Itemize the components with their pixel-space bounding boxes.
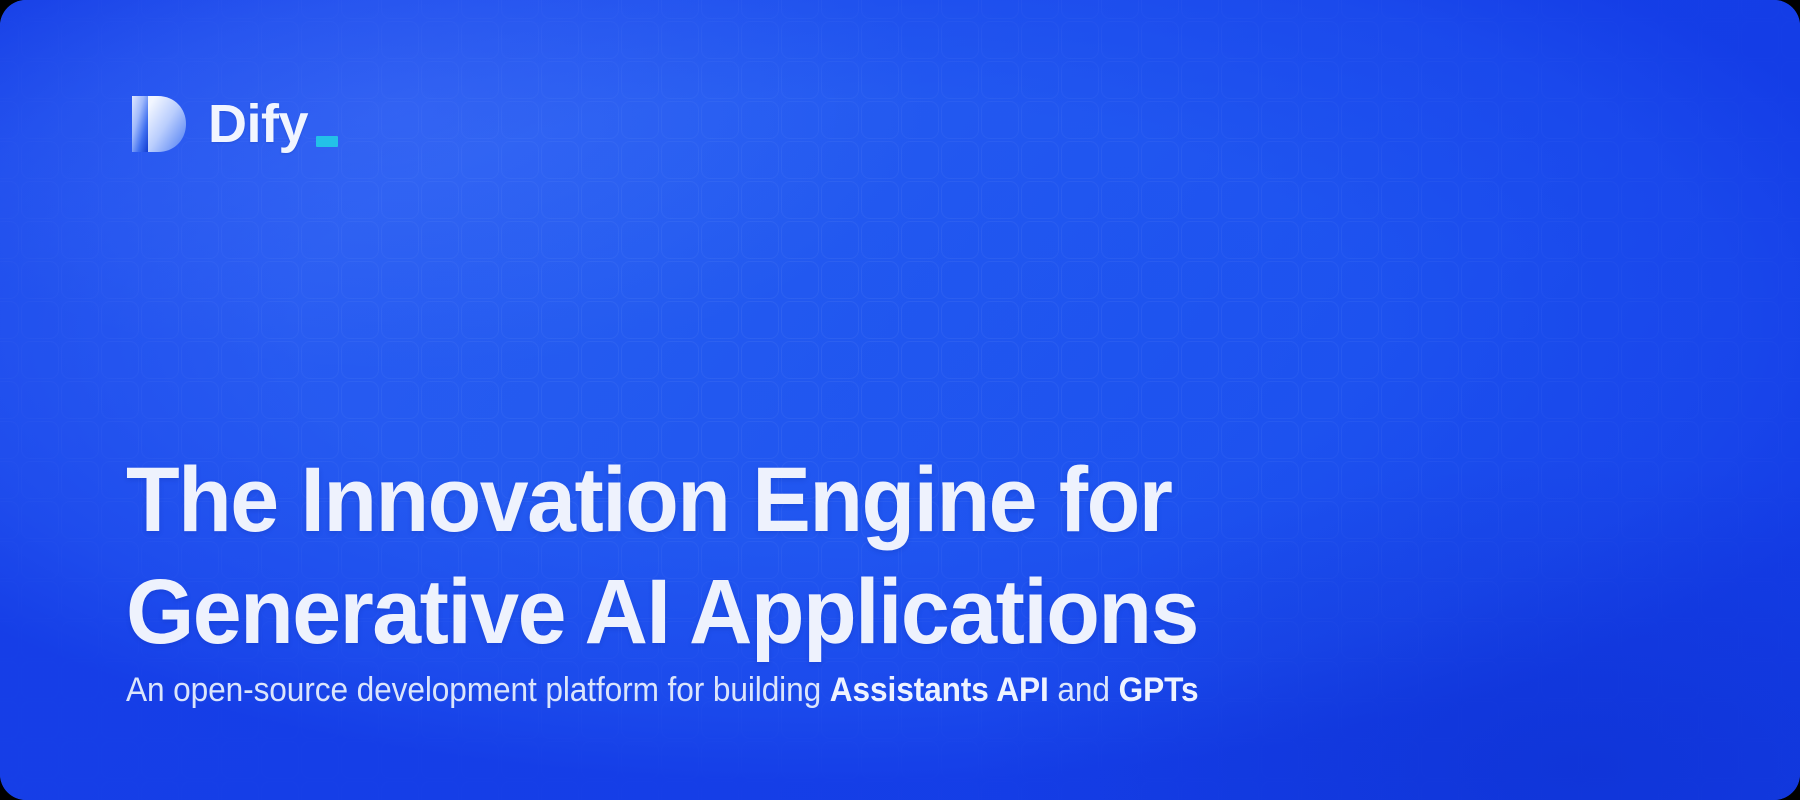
grid-cell [1221, 701, 1259, 739]
grid-cell [0, 21, 19, 59]
grid-cell [1741, 221, 1779, 259]
grid-cell [1461, 101, 1499, 139]
grid-cell [1701, 21, 1739, 59]
hero-banner: Dify The Innovation Engine for Generativ… [0, 0, 1800, 800]
grid-cell [1501, 21, 1539, 59]
grid-cell [221, 341, 259, 379]
grid-cell [501, 381, 539, 419]
grid-cell [421, 741, 459, 779]
grid-cell [661, 781, 699, 800]
grid-cell [1621, 741, 1659, 779]
grid-cell [1381, 21, 1419, 59]
grid-cell [621, 21, 659, 59]
grid-cell [0, 701, 19, 739]
grid-cell [821, 0, 859, 19]
grid-cell [461, 341, 499, 379]
grid-cell [1381, 541, 1419, 579]
grid-cell [1541, 581, 1579, 619]
grid-cell [701, 741, 739, 779]
grid-cell [741, 0, 779, 19]
grid-cell [381, 741, 419, 779]
grid-cell [1541, 61, 1579, 99]
grid-cell [1341, 0, 1379, 19]
grid-cell [1421, 421, 1459, 459]
grid-cell [1421, 141, 1459, 179]
grid-cell [1581, 261, 1619, 299]
grid-cell [821, 221, 859, 259]
grid-cell [901, 741, 939, 779]
grid-cell [1181, 781, 1219, 800]
grid-cell [301, 0, 339, 19]
grid-cell [1781, 141, 1800, 179]
grid-cell [181, 341, 219, 379]
grid-cell [1221, 221, 1259, 259]
grid-cell [261, 781, 299, 800]
grid-cell [1621, 221, 1659, 259]
grid-cell [61, 501, 99, 539]
grid-cell [701, 301, 739, 339]
grid-cell [1221, 741, 1259, 779]
grid-cell [0, 301, 19, 339]
grid-cell [621, 261, 659, 299]
grid-cell [1781, 101, 1800, 139]
grid-cell [861, 101, 899, 139]
grid-cell [461, 0, 499, 19]
grid-cell [1701, 741, 1739, 779]
grid-cell [21, 781, 59, 800]
grid-cell [1541, 261, 1579, 299]
grid-cell [1541, 781, 1579, 800]
grid-cell [781, 301, 819, 339]
grid-cell [1701, 141, 1739, 179]
grid-cell [781, 261, 819, 299]
grid-cell [781, 741, 819, 779]
grid-cell [941, 741, 979, 779]
grid-cell [861, 181, 899, 219]
grid-cell [1461, 741, 1499, 779]
grid-cell [581, 181, 619, 219]
grid-cell [1781, 261, 1800, 299]
grid-cell [1701, 781, 1739, 800]
grid-cell [1301, 621, 1339, 659]
grid-cell [901, 181, 939, 219]
grid-cell [1581, 781, 1619, 800]
grid-cell [981, 341, 1019, 379]
grid-cell [1301, 341, 1339, 379]
grid-cell [1461, 301, 1499, 339]
grid-cell [861, 221, 899, 259]
grid-cell [0, 221, 19, 259]
grid-cell [141, 21, 179, 59]
grid-cell [1341, 341, 1379, 379]
grid-cell [1421, 541, 1459, 579]
grid-cell [901, 101, 939, 139]
grid-cell [1141, 181, 1179, 219]
grid-cell [61, 781, 99, 800]
grid-cell [461, 741, 499, 779]
grid-cell [1141, 781, 1179, 800]
grid-cell [1741, 581, 1779, 619]
grid-cell [61, 61, 99, 99]
grid-cell [221, 301, 259, 339]
grid-cell [1341, 581, 1379, 619]
grid-cell [301, 341, 339, 379]
grid-cell [421, 61, 459, 99]
grid-cell [861, 341, 899, 379]
grid-cell [621, 341, 659, 379]
grid-cell [541, 0, 579, 19]
grid-cell [1301, 21, 1339, 59]
grid-cell [581, 0, 619, 19]
grid-cell [1581, 621, 1619, 659]
grid-cell [861, 301, 899, 339]
grid-cell [1421, 701, 1459, 739]
grid-cell [1621, 461, 1659, 499]
grid-cell [861, 21, 899, 59]
grid-cell [821, 261, 859, 299]
grid-cell [541, 101, 579, 139]
grid-cell [1141, 141, 1179, 179]
dify-d-mark-icon [126, 92, 190, 156]
grid-cell [661, 301, 699, 339]
hero-subtitle-part-4: GPTs [1119, 671, 1199, 709]
brand-logo[interactable]: Dify [126, 92, 338, 156]
grid-cell [661, 0, 699, 19]
grid-cell [0, 781, 19, 800]
grid-cell [1501, 621, 1539, 659]
grid-cell [1061, 101, 1099, 139]
grid-cell [1781, 701, 1800, 739]
grid-cell [1101, 381, 1139, 419]
grid-cell [1621, 301, 1659, 339]
grid-cell [1341, 461, 1379, 499]
brand-accent-dash-icon [316, 136, 338, 147]
grid-cell [61, 581, 99, 619]
grid-cell [1061, 301, 1099, 339]
grid-cell [1741, 701, 1779, 739]
grid-cell [461, 61, 499, 99]
grid-cell [1221, 261, 1259, 299]
grid-cell [1021, 181, 1059, 219]
grid-cell [341, 141, 379, 179]
grid-cell [501, 0, 539, 19]
grid-cell [1621, 381, 1659, 419]
grid-cell [901, 341, 939, 379]
grid-cell [1221, 581, 1259, 619]
grid-cell [981, 301, 1019, 339]
grid-cell [781, 141, 819, 179]
grid-cell [381, 781, 419, 800]
hero-subtitle-part-3: and [1049, 671, 1119, 709]
grid-cell [1181, 301, 1219, 339]
grid-cell [101, 261, 139, 299]
grid-cell [501, 21, 539, 59]
grid-cell [261, 341, 299, 379]
grid-cell [1701, 501, 1739, 539]
grid-cell [1021, 301, 1059, 339]
grid-cell [1061, 341, 1099, 379]
grid-cell [621, 781, 659, 800]
grid-cell [901, 381, 939, 419]
grid-cell [901, 261, 939, 299]
grid-cell [1381, 701, 1419, 739]
grid-cell [981, 781, 1019, 800]
grid-cell [661, 741, 699, 779]
grid-cell [381, 221, 419, 259]
grid-cell [701, 21, 739, 59]
grid-cell [381, 301, 419, 339]
grid-cell [1181, 141, 1219, 179]
grid-cell [941, 381, 979, 419]
grid-cell [1221, 541, 1259, 579]
grid-cell [1701, 221, 1739, 259]
grid-cell [1621, 261, 1659, 299]
grid-cell [901, 0, 939, 19]
grid-cell [941, 101, 979, 139]
grid-cell [501, 61, 539, 99]
grid-cell [1461, 261, 1499, 299]
grid-cell [1221, 0, 1259, 19]
grid-cell [1301, 541, 1339, 579]
grid-cell [541, 21, 579, 59]
grid-cell [1741, 0, 1779, 19]
grid-cell [1341, 101, 1379, 139]
grid-cell [861, 741, 899, 779]
grid-cell [1541, 221, 1579, 259]
grid-cell [141, 181, 179, 219]
grid-cell [701, 0, 739, 19]
grid-cell [1621, 181, 1659, 219]
brand-wordmark-text: Dify [208, 97, 308, 151]
grid-cell [1741, 741, 1779, 779]
grid-cell [1461, 621, 1499, 659]
grid-cell [941, 181, 979, 219]
grid-cell [1221, 101, 1259, 139]
grid-cell [421, 0, 459, 19]
grid-cell [461, 781, 499, 800]
grid-cell [1781, 341, 1800, 379]
grid-cell [181, 781, 219, 800]
grid-cell [781, 61, 819, 99]
grid-cell [541, 741, 579, 779]
grid-cell [1461, 141, 1499, 179]
grid-cell [861, 261, 899, 299]
grid-cell [1781, 221, 1800, 259]
grid-cell [21, 301, 59, 339]
grid-cell [1501, 101, 1539, 139]
grid-cell [381, 181, 419, 219]
grid-cell [1141, 101, 1179, 139]
grid-cell [1221, 501, 1259, 539]
grid-cell [1261, 61, 1299, 99]
grid-cell [901, 61, 939, 99]
grid-cell [1541, 461, 1579, 499]
grid-cell [1061, 181, 1099, 219]
grid-cell [1341, 301, 1379, 339]
hero-headline-line-2: Generative AI Applications [126, 556, 1198, 668]
grid-cell [1661, 261, 1699, 299]
grid-cell [1621, 701, 1659, 739]
grid-cell [581, 341, 619, 379]
grid-cell [541, 261, 579, 299]
grid-cell [1061, 741, 1099, 779]
grid-cell [581, 741, 619, 779]
grid-cell [1021, 261, 1059, 299]
grid-cell [1421, 461, 1459, 499]
grid-cell [61, 461, 99, 499]
grid-cell [1461, 661, 1499, 699]
grid-cell [741, 21, 779, 59]
grid-cell [1381, 0, 1419, 19]
grid-cell [1781, 21, 1800, 59]
grid-cell [1781, 61, 1800, 99]
grid-cell [61, 101, 99, 139]
grid-cell [861, 0, 899, 19]
grid-cell [1261, 21, 1299, 59]
grid-cell [0, 141, 19, 179]
grid-cell [621, 0, 659, 19]
grid-cell [0, 661, 19, 699]
grid-cell [221, 261, 259, 299]
grid-cell [461, 381, 499, 419]
grid-cell [221, 181, 259, 219]
grid-cell [861, 781, 899, 800]
grid-cell [21, 701, 59, 739]
grid-cell [1061, 61, 1099, 99]
grid-cell [21, 0, 59, 19]
grid-cell [1661, 61, 1699, 99]
hero-subtitle-part-2: Assistants API [830, 671, 1049, 709]
grid-cell [821, 141, 859, 179]
grid-cell [421, 101, 459, 139]
grid-cell [661, 181, 699, 219]
grid-cell [501, 261, 539, 299]
grid-cell [1421, 501, 1459, 539]
grid-cell [581, 221, 619, 259]
grid-cell [1341, 21, 1379, 59]
grid-cell [21, 581, 59, 619]
grid-cell [1581, 221, 1619, 259]
grid-cell [341, 61, 379, 99]
grid-cell [1381, 221, 1419, 259]
grid-cell [1541, 501, 1579, 539]
grid-cell [1101, 61, 1139, 99]
grid-cell [1421, 301, 1459, 339]
grid-cell [1101, 341, 1139, 379]
grid-cell [621, 301, 659, 339]
grid-cell [1181, 381, 1219, 419]
grid-cell [261, 261, 299, 299]
grid-cell [1581, 421, 1619, 459]
grid-cell [541, 381, 579, 419]
grid-cell [1701, 661, 1739, 699]
grid-cell [1501, 381, 1539, 419]
grid-cell [1181, 101, 1219, 139]
grid-cell [1261, 781, 1299, 800]
grid-cell [1141, 261, 1179, 299]
grid-cell [141, 381, 179, 419]
grid-cell [1261, 661, 1299, 699]
grid-cell [1581, 301, 1619, 339]
grid-cell [581, 381, 619, 419]
grid-cell [941, 21, 979, 59]
grid-cell [1221, 661, 1259, 699]
grid-cell [1621, 101, 1659, 139]
grid-cell [1141, 741, 1179, 779]
grid-cell [1301, 221, 1339, 259]
grid-cell [461, 141, 499, 179]
grid-cell [21, 181, 59, 219]
grid-cell [621, 381, 659, 419]
grid-cell [61, 221, 99, 259]
grid-cell [741, 261, 779, 299]
grid-cell [1061, 261, 1099, 299]
grid-cell [341, 261, 379, 299]
grid-cell [741, 741, 779, 779]
grid-cell [741, 101, 779, 139]
grid-cell [1741, 261, 1779, 299]
grid-cell [1021, 0, 1059, 19]
grid-cell [1741, 301, 1779, 339]
grid-cell [21, 61, 59, 99]
grid-cell [1061, 141, 1099, 179]
grid-cell [741, 381, 779, 419]
grid-cell [781, 221, 819, 259]
grid-cell [1541, 181, 1579, 219]
grid-cell [1301, 781, 1339, 800]
grid-cell [1261, 381, 1299, 419]
grid-cell [1621, 0, 1659, 19]
grid-cell [0, 501, 19, 539]
grid-cell [1021, 741, 1059, 779]
grid-cell [421, 261, 459, 299]
grid-cell [1701, 261, 1739, 299]
grid-cell [941, 141, 979, 179]
grid-cell [1101, 781, 1139, 800]
grid-cell [1621, 501, 1659, 539]
grid-cell [381, 381, 419, 419]
grid-cell [1301, 581, 1339, 619]
grid-cell [1501, 421, 1539, 459]
grid-cell [1261, 0, 1299, 19]
grid-cell [1261, 541, 1299, 579]
grid-cell [1101, 221, 1139, 259]
grid-cell [1661, 381, 1699, 419]
grid-cell [1101, 741, 1139, 779]
grid-cell [861, 141, 899, 179]
grid-cell [821, 301, 859, 339]
grid-cell [1461, 541, 1499, 579]
grid-cell [1261, 141, 1299, 179]
grid-cell [1141, 221, 1179, 259]
grid-cell [501, 781, 539, 800]
grid-cell [1301, 61, 1339, 99]
grid-cell [301, 21, 339, 59]
grid-cell [1021, 781, 1059, 800]
grid-cell [621, 141, 659, 179]
grid-cell [1621, 341, 1659, 379]
grid-cell [1581, 101, 1619, 139]
grid-cell [581, 261, 619, 299]
grid-cell [981, 61, 1019, 99]
grid-cell [1621, 21, 1659, 59]
grid-cell [181, 221, 219, 259]
grid-cell [781, 101, 819, 139]
grid-cell [1221, 461, 1259, 499]
grid-cell [701, 101, 739, 139]
grid-cell [1501, 501, 1539, 539]
grid-cell [1021, 221, 1059, 259]
